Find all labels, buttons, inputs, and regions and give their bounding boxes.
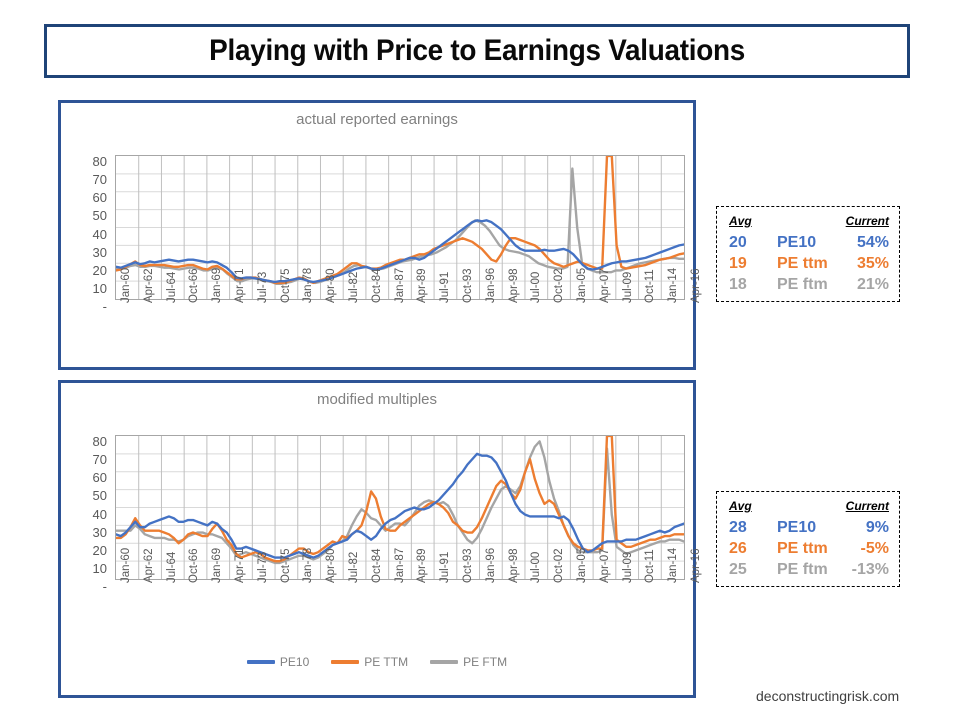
- cell-avg: 28: [729, 517, 777, 538]
- cell-avg: 20: [729, 232, 777, 253]
- y-axis-labels-bottom: 8070605040302010-: [73, 435, 107, 580]
- x-tick-label: Oct-11: [644, 269, 656, 303]
- x-tick-label: Jan-96: [485, 268, 497, 303]
- legend-swatch-pe10: [247, 660, 275, 664]
- table-row: 28 PE10 9%: [729, 517, 889, 538]
- slide-title-banner: Playing with Price to Earnings Valuation…: [44, 24, 910, 78]
- legend-item-pe10[interactable]: PE10: [247, 655, 309, 669]
- chart-panel-modified-multiples: modified multiples 8070605040302010- Jan…: [58, 380, 696, 698]
- stats-table-modified-multiples: Avg Current 28 PE10 9% 26 PE ttm -5% 25 …: [716, 491, 900, 587]
- table-row: 19 PE ttm 35%: [729, 253, 889, 274]
- x-tick-label: Jul-09: [622, 552, 634, 583]
- x-tick-label: Apr-71: [234, 268, 246, 303]
- cell-name: PE10: [777, 517, 841, 538]
- x-tick-label: Jul-73: [257, 272, 269, 303]
- x-tick-label: Jan-87: [394, 268, 406, 303]
- chart-legend-bottom: PE10 PE TTM PE FTM: [61, 655, 693, 669]
- header-blank: [777, 214, 841, 232]
- x-tick-label: Jul-64: [166, 272, 178, 303]
- table-header-row: Avg Current: [729, 499, 889, 517]
- x-tick-label: Jul-91: [439, 552, 451, 583]
- cell-avg: 26: [729, 538, 777, 559]
- x-tick-label: Jan-05: [576, 268, 588, 303]
- x-tick-label: Jul-91: [439, 272, 451, 303]
- x-tick-label: Apr-89: [416, 268, 428, 303]
- page-title: Playing with Price to Earnings Valuation…: [209, 34, 745, 68]
- cell-avg: 18: [729, 274, 777, 295]
- x-tick-label: Oct-11: [644, 549, 656, 583]
- chart-title-top: actual reported earnings: [61, 111, 693, 128]
- series-line-pe-ttm: [116, 436, 684, 561]
- x-tick-label: Jan-60: [120, 268, 132, 303]
- series-line-pe10: [116, 454, 684, 558]
- x-axis-labels-top: Jan-60Apr-62Jul-64Oct-66Jan-69Apr-71Jul-…: [115, 303, 685, 365]
- stats-table-actual-reported-earnings: Avg Current 20 PE10 54% 19 PE ttm 35% 18…: [716, 206, 900, 302]
- series-line-pe-ttm: [116, 156, 684, 283]
- cell-current: 54%: [841, 232, 889, 253]
- x-tick-label: Apr-80: [325, 548, 337, 583]
- x-tick-label: Oct-75: [280, 548, 292, 583]
- x-tick-label: Apr-16: [690, 268, 702, 303]
- x-tick-label: Apr-71: [234, 548, 246, 583]
- x-tick-label: Jul-82: [348, 272, 360, 303]
- x-tick-label: Oct-84: [371, 268, 383, 303]
- x-tick-label: Jul-00: [530, 272, 542, 303]
- header-avg: Avg: [729, 214, 777, 232]
- cell-current: 9%: [841, 517, 889, 538]
- legend-label-peftm: PE FTM: [463, 655, 507, 669]
- x-axis-labels-bottom: Jan-60Apr-62Jul-64Oct-66Jan-69Apr-71Jul-…: [115, 583, 685, 645]
- legend-swatch-peftm: [430, 660, 458, 664]
- x-tick-label: Oct-93: [462, 268, 474, 303]
- x-tick-label: Oct-75: [280, 268, 292, 303]
- cell-name: PE ttm: [777, 538, 841, 559]
- header-current: Current: [841, 214, 889, 232]
- table-row: 25 PE ftm -13%: [729, 559, 889, 580]
- cell-name: PE ftm: [777, 274, 841, 295]
- x-tick-label: Oct-66: [188, 268, 200, 303]
- series-line-pe-ftm: [116, 169, 684, 284]
- x-tick-label: Jul-82: [348, 552, 360, 583]
- legend-swatch-pettm: [331, 660, 359, 664]
- x-tick-label: Jul-00: [530, 552, 542, 583]
- cell-avg: 25: [729, 559, 777, 580]
- cell-name: PE ftm: [777, 559, 841, 580]
- x-tick-label: Oct-66: [188, 548, 200, 583]
- table-header-row: Avg Current: [729, 214, 889, 232]
- table-row: 20 PE10 54%: [729, 232, 889, 253]
- legend-item-pettm[interactable]: PE TTM: [331, 655, 408, 669]
- x-tick-label: Apr-98: [508, 548, 520, 583]
- cell-name: PE10: [777, 232, 841, 253]
- x-tick-label: Jul-73: [257, 552, 269, 583]
- cell-current: 35%: [841, 253, 889, 274]
- x-tick-label: Oct-93: [462, 548, 474, 583]
- x-tick-label: Jan-96: [485, 548, 497, 583]
- cell-current: -5%: [841, 538, 889, 559]
- x-tick-label: Apr-62: [143, 268, 155, 303]
- header-blank: [777, 499, 841, 517]
- cell-name: PE ttm: [777, 253, 841, 274]
- chart-title-bottom: modified multiples: [61, 391, 693, 408]
- cell-current: -13%: [841, 559, 889, 580]
- x-tick-label: Jul-64: [166, 552, 178, 583]
- cell-current: 21%: [841, 274, 889, 295]
- x-tick-label: Jan-05: [576, 548, 588, 583]
- x-tick-label: Oct-02: [553, 548, 565, 583]
- x-tick-label: Jan-14: [667, 268, 679, 303]
- legend-item-peftm[interactable]: PE FTM: [430, 655, 507, 669]
- x-tick-label: Apr-98: [508, 268, 520, 303]
- x-tick-label: Jan-69: [211, 268, 223, 303]
- x-tick-label: Jan-60: [120, 548, 132, 583]
- x-tick-label: Jan-69: [211, 548, 223, 583]
- site-credit: deconstructingrisk.com: [756, 688, 899, 704]
- x-tick-label: Apr-16: [690, 548, 702, 583]
- x-tick-label: Jan-78: [302, 548, 314, 583]
- x-tick-label: Apr-62: [143, 548, 155, 583]
- x-tick-label: Oct-02: [553, 268, 565, 303]
- header-current: Current: [841, 499, 889, 517]
- x-tick-label: Oct-84: [371, 548, 383, 583]
- legend-label-pettm: PE TTM: [364, 655, 408, 669]
- x-tick-label: Apr-07: [599, 268, 611, 303]
- x-tick-label: Jan-87: [394, 548, 406, 583]
- legend-label-pe10: PE10: [280, 655, 309, 669]
- table-row: 18 PE ftm 21%: [729, 274, 889, 295]
- x-tick-label: Jan-78: [302, 268, 314, 303]
- x-tick-label: Apr-07: [599, 548, 611, 583]
- x-tick-label: Apr-80: [325, 268, 337, 303]
- cell-avg: 19: [729, 253, 777, 274]
- chart-panel-actual-reported-earnings: actual reported earnings 807060504030201…: [58, 100, 696, 370]
- table-row: 26 PE ttm -5%: [729, 538, 889, 559]
- y-axis-labels-top: 8070605040302010-: [73, 155, 107, 300]
- x-tick-label: Jan-14: [667, 548, 679, 583]
- x-tick-label: Apr-89: [416, 548, 428, 583]
- header-avg: Avg: [729, 499, 777, 517]
- x-tick-label: Jul-09: [622, 272, 634, 303]
